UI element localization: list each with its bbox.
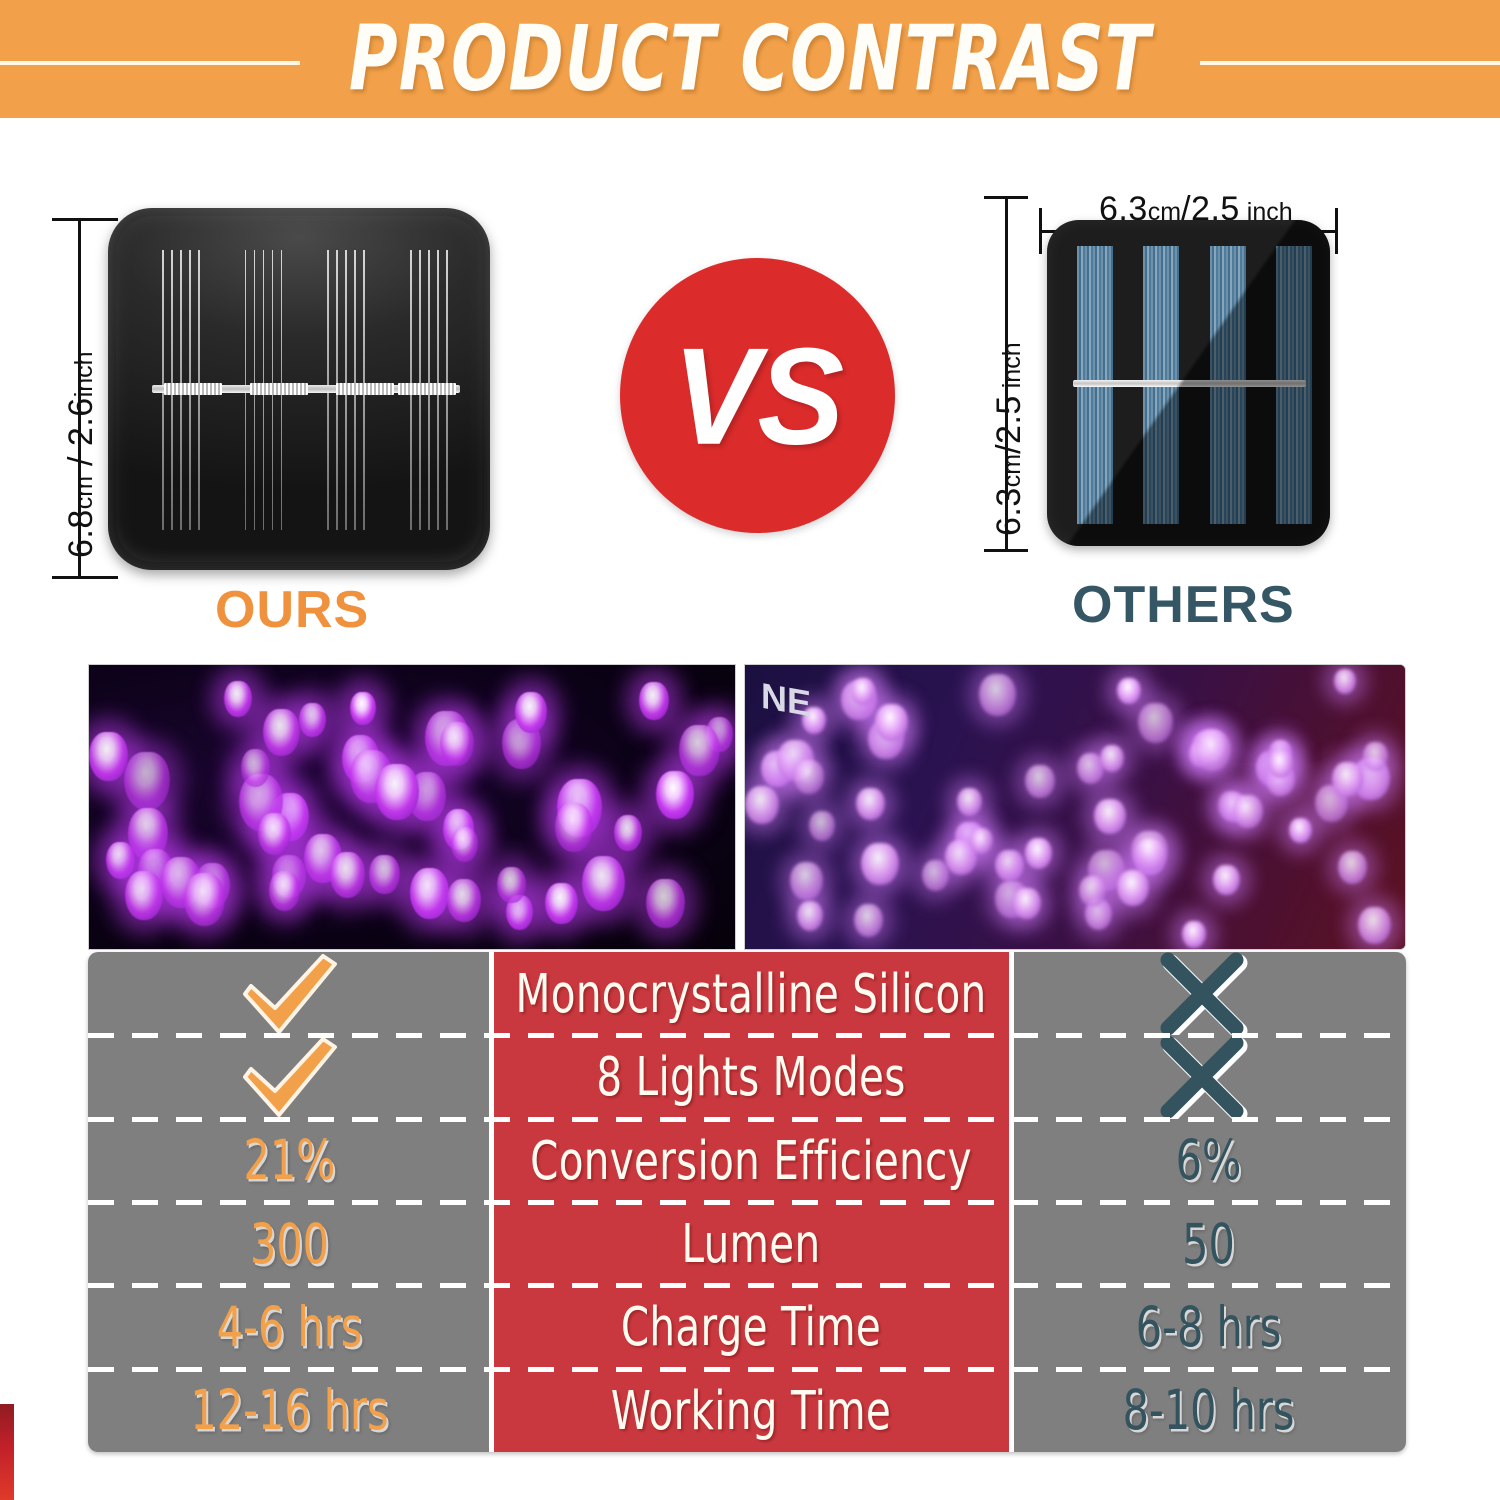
led-bulb xyxy=(1358,907,1391,944)
led-bulb xyxy=(1117,870,1149,906)
table-row: 12-16 hrsWorking Time8-10 hrs xyxy=(88,1369,1406,1452)
led-bulb xyxy=(1334,669,1356,694)
row-divider xyxy=(88,1283,1406,1288)
ours-value-cell: 4-6 hrs xyxy=(88,1285,491,1368)
header-banner: PRODUCT CONTRAST xyxy=(0,0,1500,118)
feature-name-text: Working Time xyxy=(611,1379,891,1442)
led-bulb xyxy=(1182,921,1206,948)
led-bulb xyxy=(1363,742,1388,770)
others-led-photo: NE xyxy=(744,664,1406,950)
led-bulb xyxy=(1332,762,1363,797)
led-bulb xyxy=(447,879,481,922)
led-bulb xyxy=(1268,750,1293,778)
led-bulb xyxy=(656,771,693,819)
cross-icon xyxy=(1154,1033,1264,1121)
feature-name-cell: Lumen xyxy=(491,1202,1011,1285)
cross-icon xyxy=(1154,952,1264,1038)
led-bulb xyxy=(1025,838,1052,868)
led-bulb xyxy=(1079,876,1105,906)
table-row: 21%Conversion Efficiency6% xyxy=(88,1119,1406,1202)
led-bulb xyxy=(89,732,127,781)
led-bulb xyxy=(269,871,300,911)
led-bulb xyxy=(555,803,593,852)
vs-label: VS xyxy=(673,316,842,475)
spec-comparison-table: Monocrystalline Silicon8 Lights Modes21%… xyxy=(88,952,1406,1452)
others-value-text: 8-10 hrs xyxy=(1123,1378,1295,1443)
led-bulb xyxy=(224,681,252,717)
photo-comparison-row: NE xyxy=(88,664,1406,950)
ours-value-cell: 300 xyxy=(88,1202,491,1285)
header-rule-left xyxy=(0,61,300,65)
row-divider xyxy=(88,1033,1406,1038)
others-height-tick-top xyxy=(984,196,1028,199)
others-label: OTHERS xyxy=(1072,575,1295,635)
led-bulb xyxy=(1195,730,1231,771)
feature-name-cell: Working Time xyxy=(491,1369,1011,1452)
ours-height-tick-bottom xyxy=(52,576,118,579)
ours-value-cell xyxy=(88,1035,491,1118)
ours-value-cell: 21% xyxy=(88,1119,491,1202)
led-bulb xyxy=(979,674,1016,715)
corner-accent xyxy=(0,1404,14,1500)
header-rule-right xyxy=(1200,61,1500,65)
ours-height-tick-top xyxy=(52,218,118,221)
ours-value-text: 12-16 hrs xyxy=(190,1378,388,1443)
led-bulb xyxy=(263,709,300,756)
led-bulb xyxy=(995,850,1024,882)
others-panel-glare xyxy=(1047,220,1330,546)
ours-panel-cells xyxy=(160,250,454,530)
led-bulb xyxy=(851,678,875,705)
vs-badge: VS xyxy=(620,258,895,533)
led-bulb xyxy=(1025,765,1055,798)
feature-name-text: Lumen xyxy=(682,1212,821,1275)
table-row: 8 Lights Modes xyxy=(88,1035,1406,1118)
row-divider xyxy=(88,1117,1406,1122)
others-value-cell: 6% xyxy=(1011,1119,1406,1202)
feature-name-cell: Monocrystalline Silicon xyxy=(491,952,1011,1035)
led-bulb xyxy=(639,682,669,720)
ours-cell-group xyxy=(243,250,289,530)
feature-name-text: Conversion Efficiency xyxy=(530,1129,972,1192)
others-width-tick-right xyxy=(1335,208,1338,254)
ours-cell-group xyxy=(408,250,454,530)
ours-value-text: 21% xyxy=(244,1128,336,1193)
table-row: 4-6 hrsCharge Time6-8 hrs xyxy=(88,1285,1406,1368)
check-icon xyxy=(235,952,345,1038)
led-bulb xyxy=(1013,888,1041,919)
led-bulb xyxy=(1117,678,1140,704)
led-bulb xyxy=(241,749,271,787)
led-bulb xyxy=(646,879,685,929)
led-bulb xyxy=(125,871,163,920)
led-bulb xyxy=(679,725,719,777)
ours-value-text: 300 xyxy=(250,1211,329,1276)
led-bulb xyxy=(497,867,526,904)
others-value-cell: 8-10 hrs xyxy=(1011,1369,1406,1452)
led-bulb xyxy=(1338,851,1367,884)
ours-label: OURS xyxy=(215,580,369,640)
ours-cell-group xyxy=(325,250,371,530)
led-bulb xyxy=(258,813,291,855)
ours-solar-panel-image xyxy=(108,208,490,570)
others-value-text: 6% xyxy=(1176,1128,1242,1193)
ours-led-photo xyxy=(88,664,736,950)
others-value-text: 50 xyxy=(1182,1211,1235,1276)
feature-name-text: 8 Lights Modes xyxy=(596,1046,905,1109)
others-value-cell xyxy=(1011,952,1406,1035)
check-icon xyxy=(235,1033,345,1121)
others-width-tick-left xyxy=(1039,208,1042,254)
ours-value-cell xyxy=(88,952,491,1035)
ours-height-label: 6.8cm / 2.6inch xyxy=(62,351,101,558)
led-bulb xyxy=(375,764,419,820)
feature-name-cell: Charge Time xyxy=(491,1285,1011,1368)
others-height-label: 6.3cm/2.5 inch xyxy=(990,342,1029,536)
led-bulb xyxy=(957,788,982,816)
panel-comparison-section: 6.8cm / 2.6inch 6.8cm / 2.6inch xyxy=(0,118,1500,648)
table-row: 300Lumen50 xyxy=(88,1202,1406,1285)
others-value-cell xyxy=(1011,1035,1406,1118)
feature-name-text: Monocrystalline Silicon xyxy=(516,962,987,1025)
led-bulb xyxy=(440,722,474,766)
ours-value-text: 4-6 hrs xyxy=(217,1295,363,1360)
others-value-cell: 6-8 hrs xyxy=(1011,1285,1406,1368)
led-bulb xyxy=(184,873,225,926)
led-bulb xyxy=(515,692,547,733)
ours-cell-group xyxy=(160,250,206,530)
row-divider xyxy=(88,1367,1406,1372)
column-divider-right xyxy=(1009,952,1014,1452)
led-bulb xyxy=(854,904,883,937)
led-bulb xyxy=(545,883,578,925)
led-bulb xyxy=(1094,799,1125,834)
led-bulb xyxy=(861,843,899,885)
led-bulb xyxy=(369,855,399,894)
column-divider-left xyxy=(489,952,494,1452)
led-bulb xyxy=(1213,865,1240,895)
others-value-cell: 50 xyxy=(1011,1202,1406,1285)
table-row: Monocrystalline Silicon xyxy=(88,952,1406,1035)
led-bulb xyxy=(582,856,625,911)
led-bulb xyxy=(875,704,908,741)
row-divider xyxy=(88,1200,1406,1205)
led-bulb xyxy=(299,703,326,737)
led-bulb xyxy=(809,811,835,840)
photo-sign-text: NE xyxy=(761,675,811,726)
feature-name-cell: 8 Lights Modes xyxy=(491,1035,1011,1118)
led-bulb xyxy=(124,752,170,811)
ours-panel-busbar xyxy=(152,385,460,393)
led-bulb xyxy=(451,827,478,862)
led-bulb xyxy=(745,786,779,824)
led-bulb xyxy=(614,815,642,851)
product-contrast-infographic: PRODUCT CONTRAST 6.8cm / 2.6inch 6.8cm /… xyxy=(0,0,1500,1500)
led-bulb xyxy=(794,760,824,793)
led-bulb xyxy=(106,842,135,879)
led-bulb xyxy=(410,868,449,918)
others-value-text: 6-8 hrs xyxy=(1136,1295,1282,1360)
feature-name-cell: Conversion Efficiency xyxy=(491,1119,1011,1202)
led-bulb xyxy=(1138,703,1173,742)
led-bulb xyxy=(856,788,884,820)
ours-value-cell: 12-16 hrs xyxy=(88,1369,491,1452)
others-solar-panel-image xyxy=(1047,220,1330,546)
page-title: PRODUCT CONTRAST xyxy=(335,7,1165,112)
led-bulb xyxy=(790,862,823,899)
led-bulb xyxy=(1131,831,1168,873)
others-height-tick-bottom xyxy=(984,549,1028,552)
feature-name-text: Charge Time xyxy=(621,1296,881,1359)
